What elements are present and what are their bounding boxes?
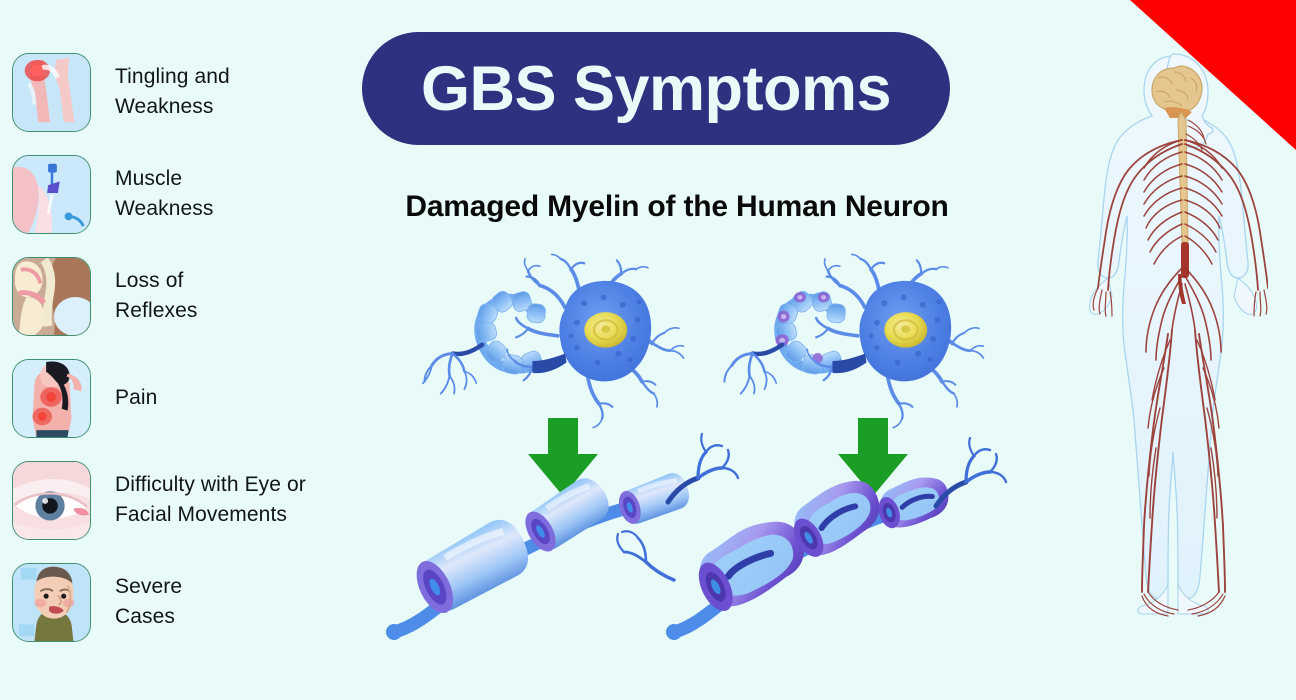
page-title: GBS Symptoms (421, 53, 891, 125)
infographic-root: Tingling and Weakness M (0, 0, 1296, 700)
symptom-label-line2: Weakness (115, 92, 230, 122)
symptom-label-line2: Reflexes (115, 296, 198, 326)
symptom-label-line1: Loss of (115, 266, 198, 296)
symptom-label-line2: Facial Movements (115, 500, 306, 530)
symptom-item-label: Tingling and Weakness (115, 62, 230, 122)
eye-icon (12, 461, 91, 540)
symptom-item-label: Severe Cases (115, 572, 182, 632)
symptom-label-line2: Cases (115, 602, 182, 632)
title-banner: GBS Symptoms (362, 32, 950, 145)
symptom-item-severe-cases[interactable]: Severe Cases (12, 558, 362, 646)
damaged-myelin-panel (724, 254, 983, 427)
symptom-list: Tingling and Weakness M (12, 48, 362, 660)
symptom-item-eye-facial-movements[interactable]: Difficulty with Eye or Facial Movements (12, 456, 362, 544)
myelin-sheath-detail-right (617, 438, 1006, 640)
symptom-label-line1: Tingling and (115, 62, 230, 92)
myelin-damage-diagram (380, 250, 1020, 660)
subtitle: Damaged Myelin of the Human Neuron (362, 190, 992, 224)
symptom-item-tingling-and-weakness[interactable]: Tingling and Weakness (12, 48, 362, 136)
arm-joint-pain-icon (12, 53, 91, 132)
red-corner-flag (1130, 0, 1296, 150)
symptom-label-line1: Muscle (115, 164, 213, 194)
symptom-label-line1: Severe (115, 572, 182, 602)
knee-joint-icon (12, 257, 91, 336)
symptom-item-label: Difficulty with Eye or Facial Movements (115, 470, 306, 530)
healthy-myelin-panel (423, 254, 683, 427)
elderly-face-icon (12, 563, 91, 642)
symptom-label-line1: Difficulty with Eye or (115, 470, 306, 500)
muscle-injection-icon (12, 155, 91, 234)
symptom-item-pain[interactable]: Pain (12, 354, 362, 442)
symptom-item-muscle-weakness[interactable]: Muscle Weakness (12, 150, 362, 238)
symptom-item-label: Pain (115, 383, 157, 413)
symptom-item-label: Loss of Reflexes (115, 266, 198, 326)
symptom-item-label: Muscle Weakness (115, 164, 213, 224)
symptom-item-loss-of-reflexes[interactable]: Loss of Reflexes (12, 252, 362, 340)
symptom-label-line2: Weakness (115, 194, 213, 224)
back-pain-icon (12, 359, 91, 438)
symptom-label-line1: Pain (115, 383, 157, 413)
